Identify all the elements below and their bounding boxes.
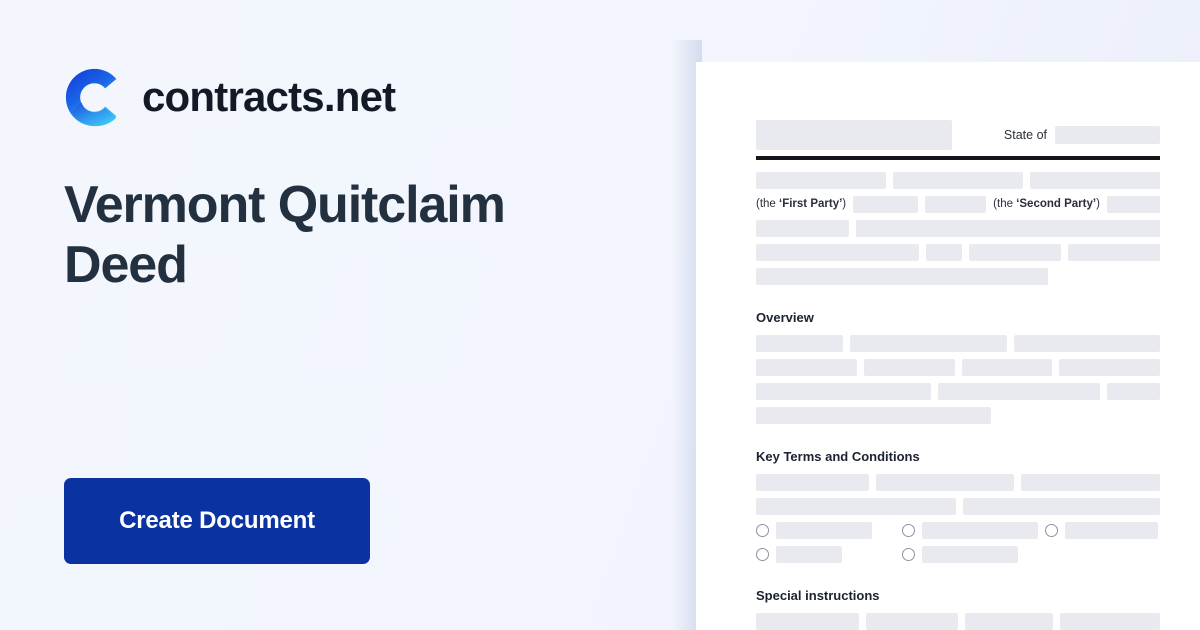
placeholder-bar bbox=[866, 613, 958, 630]
placeholder-row bbox=[756, 474, 1160, 491]
radio-button-icon[interactable] bbox=[1045, 524, 1058, 537]
hero-left-panel: contracts.net Vermont Quitclaim Deed Cre… bbox=[0, 0, 700, 630]
document-title-placeholder bbox=[756, 120, 952, 150]
placeholder-bar bbox=[756, 498, 956, 515]
radio-button-icon[interactable] bbox=[902, 524, 915, 537]
section-heading-special-instructions: Special instructions bbox=[756, 589, 1160, 602]
radio-button-icon[interactable] bbox=[756, 548, 769, 561]
placeholder-bar bbox=[925, 196, 987, 213]
placeholder-bar bbox=[1059, 359, 1160, 376]
placeholder-bar bbox=[756, 407, 991, 424]
radio-option-row bbox=[756, 522, 1160, 539]
placeholder-bar bbox=[1065, 522, 1158, 539]
radio-button-icon[interactable] bbox=[756, 524, 769, 537]
placeholder-row bbox=[756, 359, 1160, 376]
placeholder-row bbox=[756, 407, 1160, 424]
document-preview-content: State of (the ‘First Party’) (the ‘Secon… bbox=[756, 120, 1160, 630]
placeholder-bar bbox=[864, 359, 954, 376]
placeholder-bar bbox=[1068, 244, 1160, 261]
first-party-label: (the ‘First Party’) bbox=[756, 199, 846, 211]
placeholder-bar bbox=[756, 268, 1048, 285]
placeholder-bar bbox=[962, 359, 1052, 376]
brand-name: contracts.net bbox=[142, 76, 395, 118]
state-value-placeholder bbox=[1055, 126, 1160, 144]
radio-option-row bbox=[756, 546, 1160, 563]
placeholder-bar bbox=[1107, 383, 1160, 400]
section-heading-overview: Overview bbox=[756, 311, 1160, 324]
party-line-row: (the ‘First Party’) (the ‘Second Party’) bbox=[756, 196, 1160, 213]
state-of-label: State of bbox=[1004, 128, 1047, 142]
placeholder-bar bbox=[965, 613, 1054, 630]
placeholder-bar bbox=[853, 196, 917, 213]
placeholder-bar bbox=[922, 546, 1018, 563]
placeholder-bar bbox=[1014, 335, 1160, 352]
placeholder-bar bbox=[756, 613, 859, 630]
page-title: Vermont Quitclaim Deed bbox=[64, 132, 534, 295]
placeholder-bar bbox=[969, 244, 1061, 261]
placeholder-bar bbox=[963, 498, 1160, 515]
placeholder-bar bbox=[776, 546, 842, 563]
second-party-label: (the ‘Second Party’) bbox=[993, 199, 1100, 211]
create-document-button[interactable]: Create Document bbox=[64, 478, 370, 564]
placeholder-row bbox=[756, 383, 1160, 400]
document-header-row: State of bbox=[756, 120, 1160, 150]
placeholder-row bbox=[756, 268, 1160, 285]
placeholder-bar bbox=[876, 474, 1014, 491]
state-of-group: State of bbox=[1004, 126, 1160, 144]
brand-lockup[interactable]: contracts.net bbox=[64, 62, 700, 132]
placeholder-bar bbox=[926, 244, 962, 261]
placeholder-row bbox=[756, 498, 1160, 515]
placeholder-row bbox=[756, 613, 1160, 630]
document-header-rule bbox=[756, 156, 1160, 160]
placeholder-row bbox=[756, 172, 1160, 189]
placeholder-bar bbox=[756, 244, 919, 261]
placeholder-row bbox=[756, 244, 1160, 261]
placeholder-bar bbox=[756, 220, 849, 237]
placeholder-bar bbox=[922, 522, 1038, 539]
placeholder-bar bbox=[776, 522, 872, 539]
placeholder-bar bbox=[850, 335, 1008, 352]
placeholder-bar bbox=[1030, 172, 1160, 189]
section-heading-key-terms: Key Terms and Conditions bbox=[756, 450, 1160, 463]
placeholder-bar bbox=[756, 383, 931, 400]
placeholder-row bbox=[756, 220, 1160, 237]
placeholder-bar bbox=[756, 335, 843, 352]
placeholder-row bbox=[756, 335, 1160, 352]
contracts-c-logo-icon bbox=[64, 67, 125, 128]
placeholder-bar bbox=[756, 359, 857, 376]
placeholder-bar bbox=[856, 220, 1160, 237]
placeholder-bar bbox=[938, 383, 1100, 400]
placeholder-bar bbox=[893, 172, 1024, 189]
cta-wrapper: Create Document bbox=[64, 478, 370, 564]
radio-button-icon[interactable] bbox=[902, 548, 915, 561]
placeholder-bar bbox=[1021, 474, 1160, 491]
document-preview-panel[interactable]: State of (the ‘First Party’) (the ‘Secon… bbox=[696, 62, 1200, 630]
placeholder-bar bbox=[1060, 613, 1160, 630]
placeholder-bar bbox=[1107, 196, 1160, 213]
placeholder-bar bbox=[756, 474, 869, 491]
placeholder-bar bbox=[756, 172, 886, 189]
og-card: contracts.net Vermont Quitclaim Deed Cre… bbox=[0, 0, 1200, 630]
